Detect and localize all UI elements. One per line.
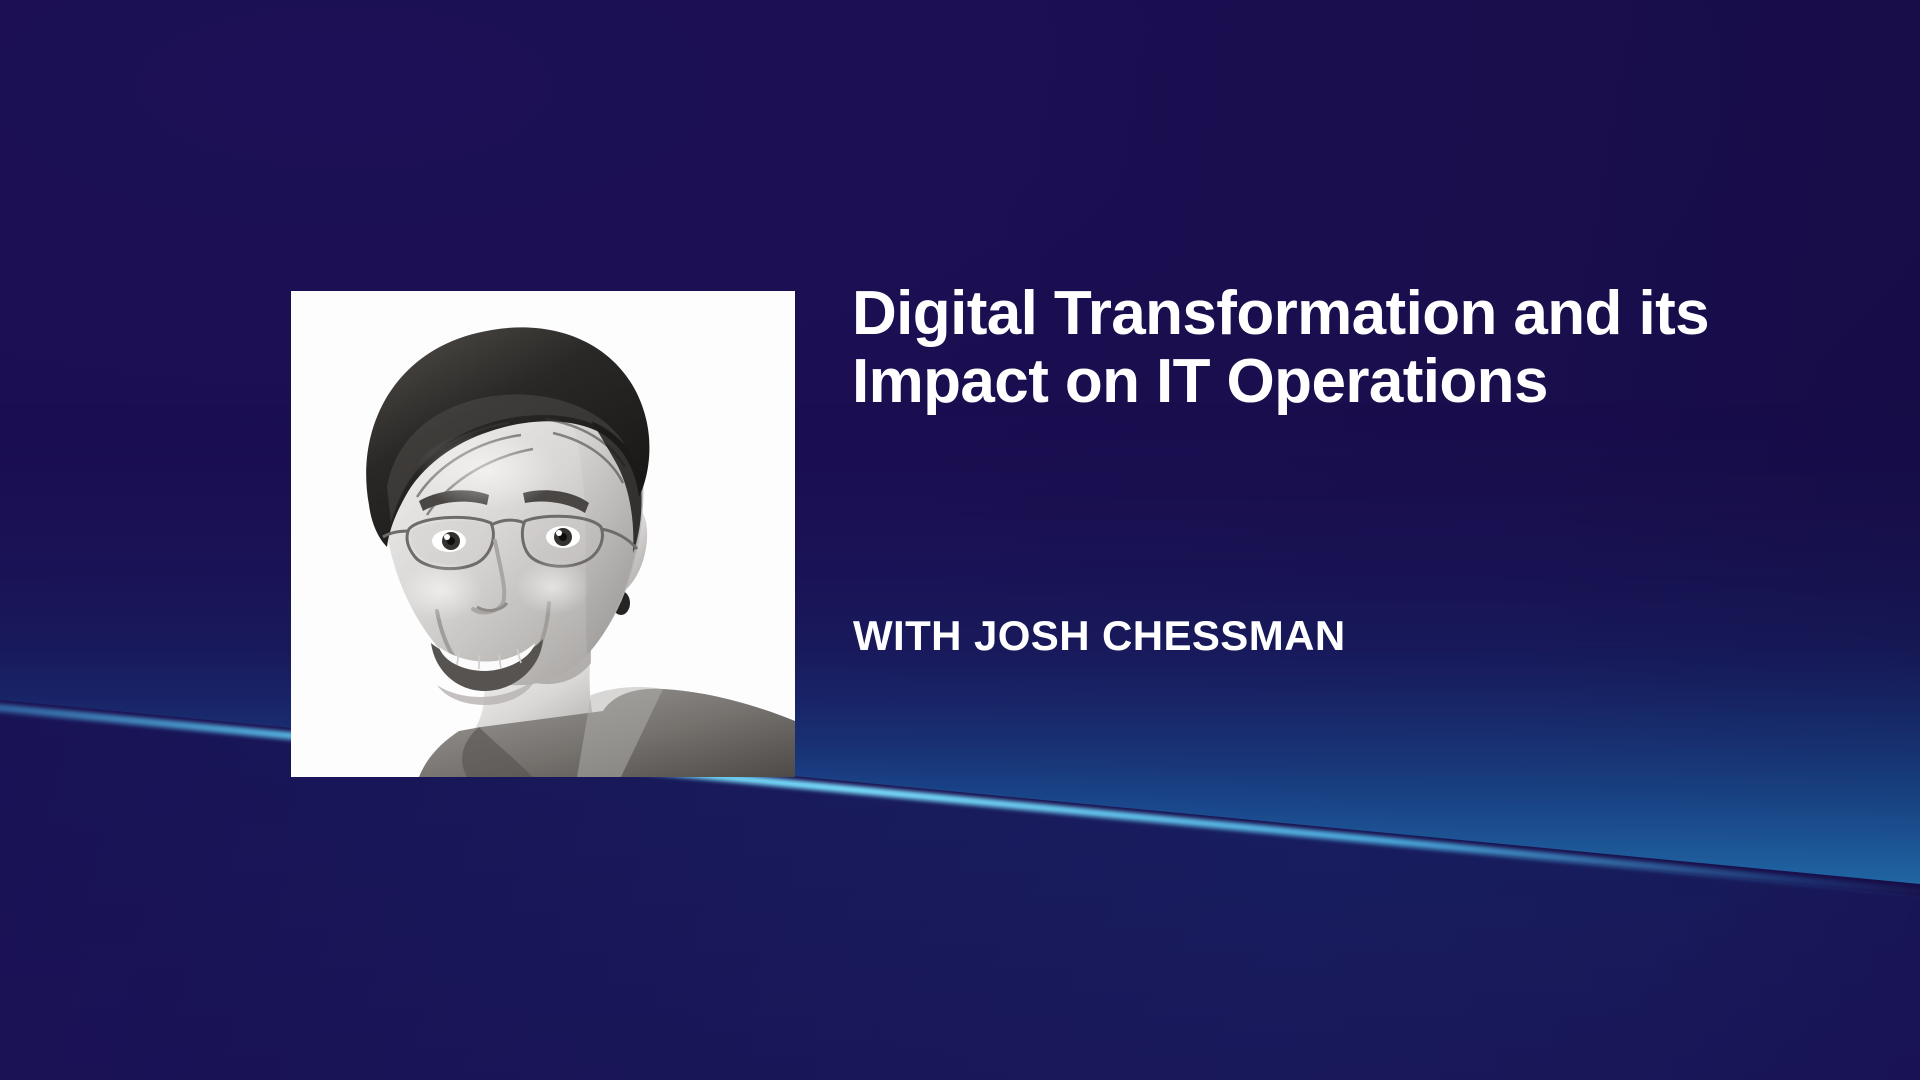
slide-subtitle-speaker: WITH JOSH CHESSMAN xyxy=(853,613,1346,659)
slide-title: Digital Transformation and its Impact on… xyxy=(852,280,1732,416)
presentation-slide: Digital Transformation and its Impact on… xyxy=(0,0,1920,1080)
slide-text-column: Digital Transformation and its Impact on… xyxy=(852,280,1732,416)
speaker-portrait xyxy=(291,291,795,777)
